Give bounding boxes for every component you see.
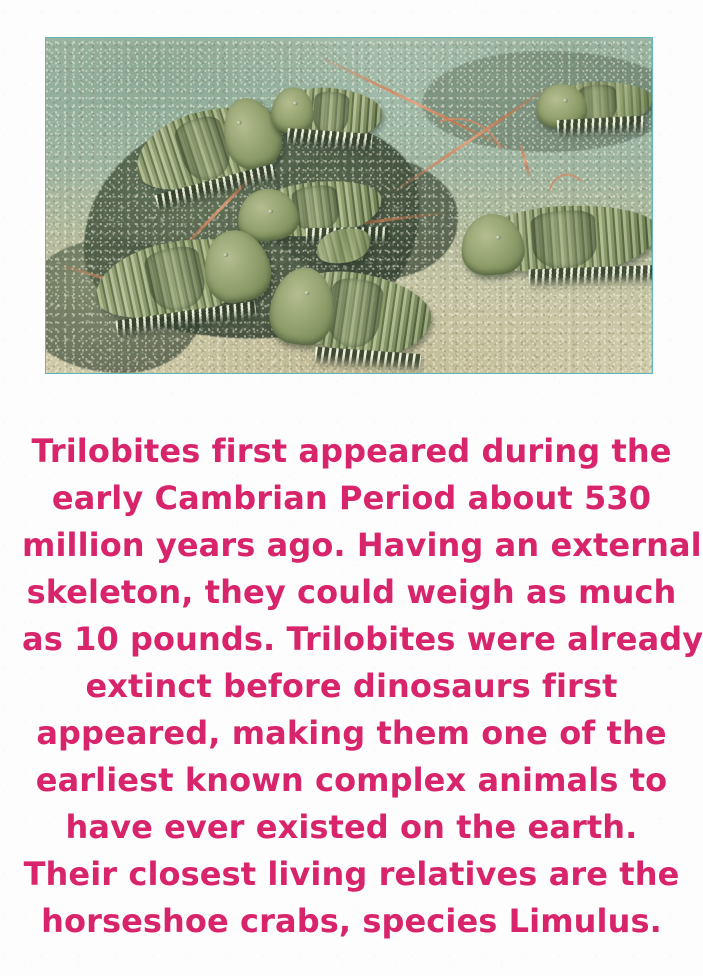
trilobite-eye [224,253,230,258]
caption-line-10: Their closest living relatives are the [22,851,681,898]
trilobite-right-top [542,79,652,128]
caption-line-3: million years ago. Having an external [22,522,681,569]
caption-line-1: Trilobites first appeared during the [22,428,681,475]
caption-line-7: appeared, making them one of the [22,710,681,757]
caption-line-2: early Cambrian Period about 530 [22,475,681,522]
trilobite-photo-frame [45,37,653,374]
caption-line-11: horseshoe crabs, species Limulus. [22,898,681,945]
caption-line-9: have ever existed on the earth. [22,804,681,851]
caption-text: Trilobites first appeared during the ear… [0,428,703,945]
trilobite-eye [267,209,272,214]
trilobite-mid-top [278,85,384,142]
caption-line-5: as 10 pounds. Trilobites were already [22,616,681,663]
trilobite-eye [562,98,567,102]
trilobite-photo [46,38,652,373]
trilobite-right-mid [468,199,652,279]
trilobite-eye [292,101,297,105]
trilobite-eye [496,235,501,239]
caption-line-4: skeleton, they could weigh as much [22,569,681,616]
trilobite-pleural-spines [529,264,652,286]
caption-line-6: extinct before dinosaurs first [22,663,681,710]
trilobite-eye [236,120,242,125]
trilobite-eye [304,290,310,295]
caption-line-8: earliest known complex animals to [22,757,681,804]
